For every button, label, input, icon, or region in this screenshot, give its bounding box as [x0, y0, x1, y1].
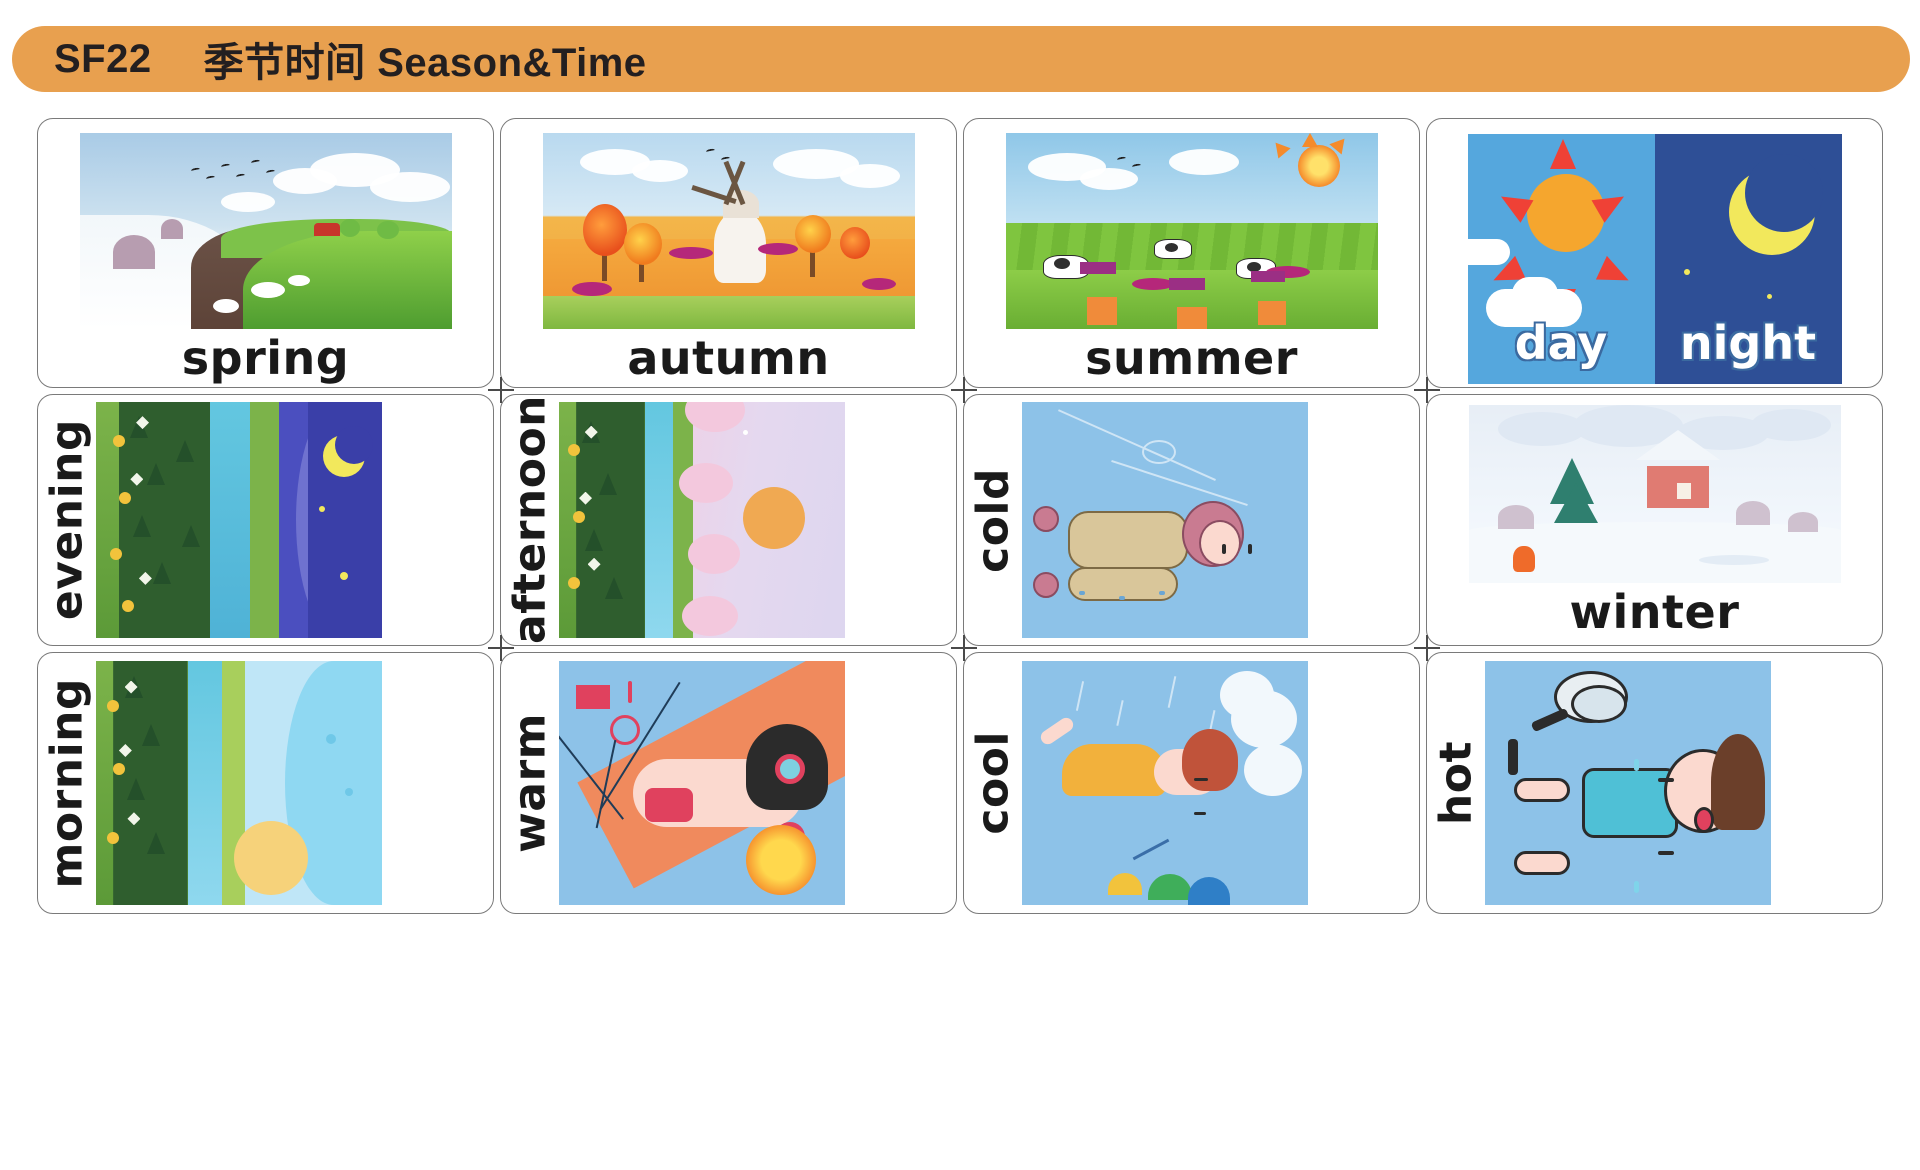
card-warm[interactable]: warm: [500, 652, 957, 914]
autumn-illustration: [543, 133, 915, 329]
card-spring[interactable]: spring: [37, 118, 494, 388]
card-afternoon[interactable]: afternoon: [500, 394, 957, 646]
flashcard-sheet: SF22 季节时间 Season&Time: [0, 0, 1920, 1170]
card-morning[interactable]: morning: [37, 652, 494, 914]
sheet-title: 季节时间 Season&Time: [204, 30, 647, 88]
card-cool[interactable]: cool: [963, 652, 1420, 914]
sheet-code: SF22: [54, 37, 152, 82]
day-label: day: [1468, 316, 1655, 370]
card-label-spring: spring: [38, 329, 493, 381]
warm-illustration: [559, 661, 845, 905]
card-label-morning: morning: [38, 678, 96, 889]
card-autumn[interactable]: autumn: [500, 118, 957, 388]
header-banner: SF22 季节时间 Season&Time: [12, 26, 1910, 92]
card-evening[interactable]: evening: [37, 394, 494, 646]
card-label-autumn: autumn: [501, 329, 956, 381]
card-day-night[interactable]: day night: [1426, 118, 1883, 388]
card-label-afternoon: afternoon: [501, 395, 559, 644]
card-label-evening: evening: [38, 419, 96, 620]
day-night-illustration: day night: [1468, 134, 1842, 384]
card-grid: spring: [34, 115, 1886, 1150]
evening-illustration: [96, 402, 382, 638]
card-winter[interactable]: winter: [1426, 394, 1883, 646]
spring-illustration: [80, 133, 452, 329]
summer-illustration: [1006, 133, 1378, 329]
cool-illustration: [1022, 661, 1308, 905]
morning-illustration: [96, 661, 382, 905]
card-summer[interactable]: summer: [963, 118, 1420, 388]
card-label-summer: summer: [964, 329, 1419, 381]
card-cold[interactable]: cold: [963, 394, 1420, 646]
hot-illustration: [1485, 661, 1771, 905]
card-label-winter: winter: [1427, 583, 1882, 635]
cold-illustration: [1022, 402, 1308, 638]
card-label-warm: warm: [501, 713, 559, 853]
card-label-cold: cold: [964, 468, 1022, 573]
afternoon-illustration: [559, 402, 845, 638]
winter-illustration: [1469, 405, 1841, 583]
night-label: night: [1655, 316, 1842, 370]
card-label-cool: cool: [964, 731, 1022, 835]
card-hot[interactable]: hot: [1426, 652, 1883, 914]
card-label-hot: hot: [1427, 741, 1485, 825]
